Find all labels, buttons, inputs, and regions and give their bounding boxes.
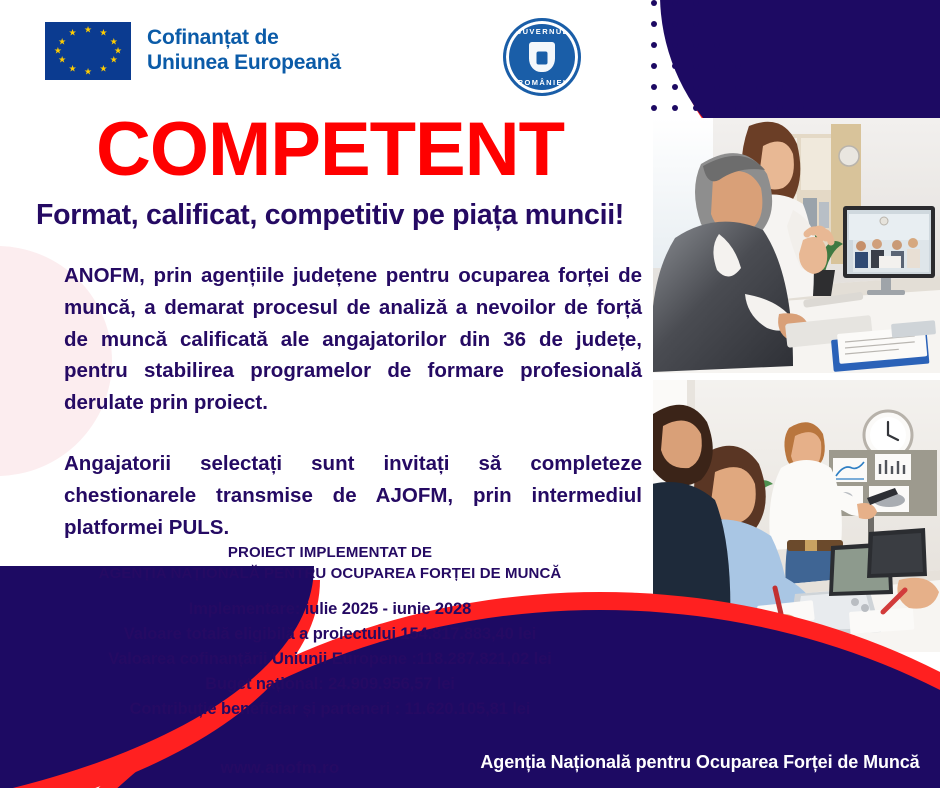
implementer-line1: PROIECT IMPLEMENTAT DE bbox=[20, 542, 640, 563]
eu-flag-icon: ★ ★ ★ ★ ★ ★ ★ ★ ★ ★ ★ ★ bbox=[45, 22, 131, 80]
eu-logo-line1: Cofinanțat de bbox=[147, 26, 341, 51]
figure-national-budget: Buget național: 24.909.956,57 lei bbox=[20, 672, 640, 697]
romania-government-seal-icon: GUVERNUL ROMÂNIEI bbox=[503, 18, 581, 96]
agency-name-footer: Agenția Națională pentru Ocuparea Forței… bbox=[470, 752, 930, 773]
dot-grid-pattern-icon bbox=[650, 0, 850, 118]
photo-training-meeting bbox=[653, 380, 940, 652]
project-figures-block: Implementare: iulie 2025 - iunie 2028 Va… bbox=[20, 597, 640, 722]
eu-logo-line2: Uniunea Europeană bbox=[147, 51, 341, 76]
page-subtitle: Format, calificat, competitiv pe piața m… bbox=[0, 200, 660, 231]
website-url[interactable]: www.anofm.ro bbox=[130, 758, 430, 778]
figure-total-eligible-value: Valoare totală eligibilă a proiectului 1… bbox=[20, 622, 640, 647]
figure-implementation-period: Implementare: iulie 2025 - iunie 2028 bbox=[20, 597, 640, 622]
seal-eagle-crest-icon bbox=[529, 42, 555, 72]
body-paragraph-2: Angajatorii selectați sunt invitați să c… bbox=[64, 448, 642, 543]
implementer-block: PROIECT IMPLEMENTAT DE AGENȚIA NAȚIONALĂ… bbox=[20, 542, 640, 585]
page-title: COMPETENT bbox=[0, 112, 660, 188]
body-paragraph-1: ANOFM, prin agențiile județene pentru oc… bbox=[64, 260, 642, 419]
figure-eu-cofinancing-value: Valoarea cofinanțării Uniunii Europene :… bbox=[20, 647, 640, 672]
seal-top-text: GUVERNUL bbox=[506, 27, 578, 36]
eu-logo-text: Cofinanțat de Uniunea Europeană bbox=[147, 26, 341, 76]
implementer-line2: AGENȚIA NAȚIONALĂ PENTRU OCUPAREA FORȚEI… bbox=[20, 563, 640, 584]
eu-cofinancing-logo: ★ ★ ★ ★ ★ ★ ★ ★ ★ ★ ★ ★ Cofinanțat de Un… bbox=[45, 22, 341, 80]
photo-videocall-office bbox=[653, 118, 940, 373]
seal-bottom-text: ROMÂNIEI bbox=[506, 78, 578, 87]
poster-canvas: ★ ★ ★ ★ ★ ★ ★ ★ ★ ★ ★ ★ Cofinanțat de Un… bbox=[0, 0, 940, 788]
figure-beneficiary-contribution: Contribuție beneficiar și parteneri : 11… bbox=[20, 697, 640, 722]
